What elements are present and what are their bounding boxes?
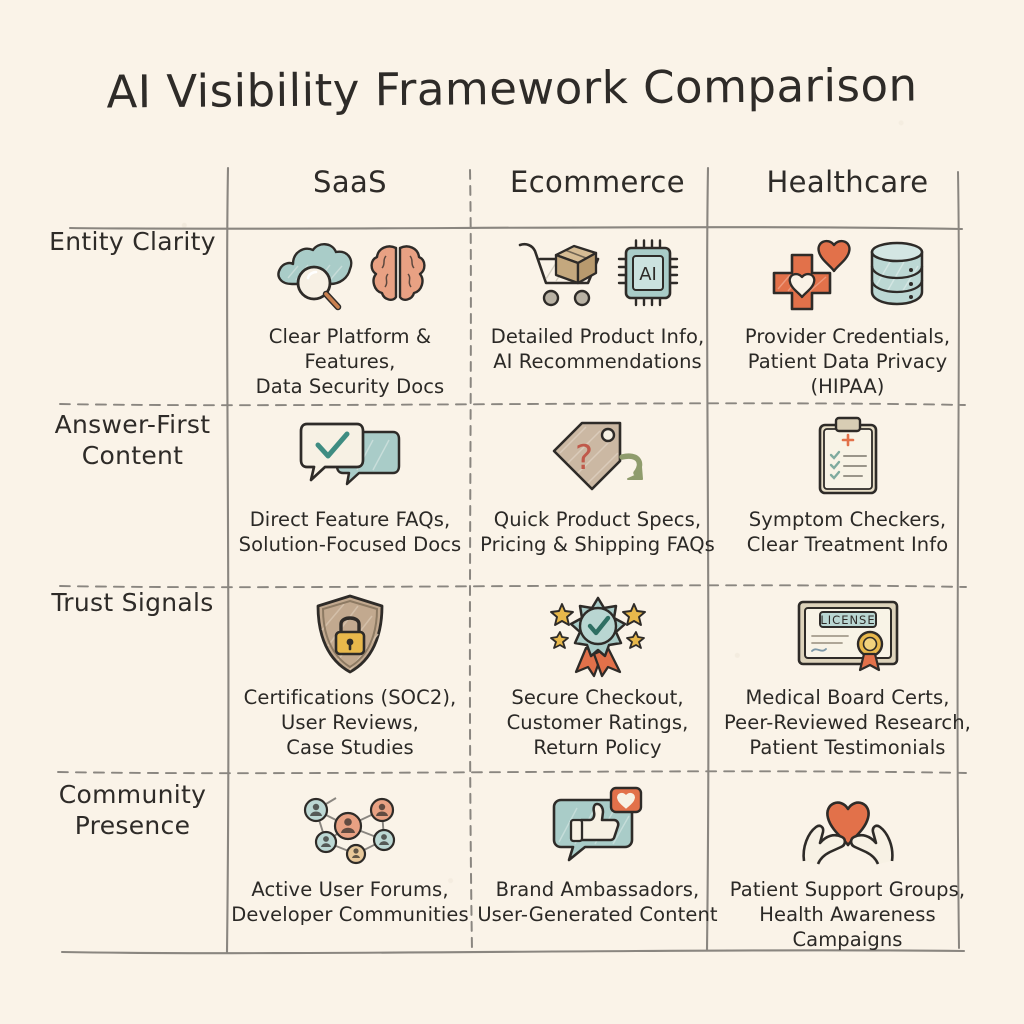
cell-trust-signals-saas: Certifications (SOC2), User Reviews, Cas… [225,588,475,780]
cell-text: Secure Checkout, Customer Ratings, Retur… [475,686,720,761]
cell-text: Quick Product Specs, Pricing & Shipping … [475,508,720,558]
cell-text: Medical Board Certs, Peer-Reviewed Resea… [720,686,975,761]
shield-lock-icon [314,592,386,676]
icon-group [720,227,975,319]
table-row: Entity Clarity [40,227,975,410]
icon-group: ? [475,410,720,502]
database-icon [866,238,928,308]
cell-answer-first-ecommerce: ? Quick Product Specs, Pricing & Shippin… [475,410,720,588]
row-header-entity-clarity: Entity Clarity [40,227,225,410]
cell-answer-first-healthcare: Symptom Checkers, Clear Treatment Info [720,410,975,588]
cell-text: Symptom Checkers, Clear Treatment Info [720,508,975,558]
table-row: Trust Signals Certificati [40,588,975,780]
row-header-trust-signals: Trust Signals [40,588,225,780]
award-badge-check-icon [550,592,646,676]
clipboard-checklist-icon [812,415,884,497]
hands-heart-icon [800,787,896,865]
ai-chip-label: AI [639,264,657,285]
cell-text: Active User Forums, Developer Communitie… [225,878,475,928]
price-tag-question-icon: ? [542,417,654,495]
icon-group [225,780,475,872]
brain-icon [368,240,428,306]
star-icon [551,604,573,625]
network-users-icon [296,788,404,864]
question-mark-glyph: ? [574,438,592,478]
icon-group [720,780,975,872]
table-row: Answer-First Content Direct Feature FAQs… [40,410,975,588]
icon-group [225,410,475,502]
icon-group [225,588,475,680]
row-header-community-presence: Community Presence [40,780,225,970]
matrix-corner-cell [40,165,225,227]
column-header-ecommerce: Ecommerce [475,165,720,227]
matrix-header-row: SaaS Ecommerce Healthcare [40,165,975,227]
icon-group [475,780,720,872]
ai-chip-icon: AI [618,240,680,306]
cell-trust-signals-ecommerce: Secure Checkout, Customer Ratings, Retur… [475,588,720,780]
cell-text: Detailed Product Info, AI Recommendation… [475,325,720,375]
column-header-healthcare: Healthcare [720,165,975,227]
icon-group: AI [475,227,720,319]
cell-text: Provider Credentials, Patient Data Priva… [720,325,975,400]
page-title: AI Visibility Framework Comparison [0,58,1024,120]
star-icon [623,604,645,625]
comparison-matrix: SaaS Ecommerce Healthcare Entity Clarity [40,165,975,970]
table-row: Community Presence [40,780,975,970]
icon-group [225,227,475,319]
row-header-answer-first-content: Answer-First Content [40,410,225,588]
medical-cross-heart-icon [768,235,856,311]
cell-community-saas: Active User Forums, Developer Communitie… [225,780,475,970]
star-icon [627,632,644,648]
icon-group [720,410,975,502]
cell-text: Certifications (SOC2), User Reviews, Cas… [225,686,475,761]
cell-trust-signals-healthcare: LICENSE Medical Board Certs, Peer-Review… [720,588,975,780]
cell-text: Patient Support Groups, Health Awareness… [720,878,975,953]
cell-text: Brand Ambassadors, User-Generated Conten… [475,878,720,928]
star-icon [551,632,568,648]
shopping-cart-box-icon [516,235,608,311]
cloud-search-icon [272,236,358,310]
cell-community-ecommerce: Brand Ambassadors, User-Generated Conten… [475,780,720,970]
cell-entity-clarity-ecommerce: AI Detailed Product Info, AI Recommendat… [475,227,720,410]
icon-group: LICENSE [720,588,975,680]
cell-community-healthcare: Patient Support Groups, Health Awareness… [720,780,975,970]
column-header-saas: SaaS [225,165,475,227]
license-certificate-icon: LICENSE [794,594,902,674]
thumbs-up-chat-heart-icon [551,786,645,866]
cell-text: Clear Platform & Features, Data Security… [225,325,475,400]
chat-bubble-check-icon [297,418,403,494]
icon-group [475,588,720,680]
cell-text: Direct Feature FAQs, Solution-Focused Do… [225,508,475,558]
cell-entity-clarity-saas: Clear Platform & Features, Data Security… [225,227,475,410]
license-label: LICENSE [820,613,875,627]
cell-answer-first-saas: Direct Feature FAQs, Solution-Focused Do… [225,410,475,588]
cell-entity-clarity-healthcare: Provider Credentials, Patient Data Priva… [720,227,975,410]
arrow-icon [622,456,640,473]
